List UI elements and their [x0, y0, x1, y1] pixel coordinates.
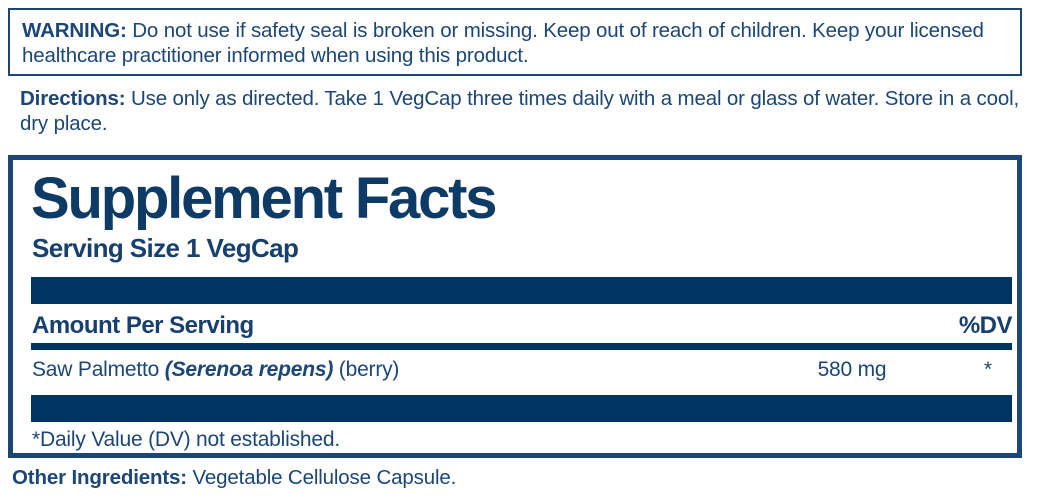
table-header-row: Amount Per Serving %DV	[32, 312, 1012, 340]
ingredient-dv-value: *	[968, 358, 1008, 382]
percent-dv-label: %DV	[959, 312, 1012, 340]
supplement-facts-panel: Supplement Facts Serving Size 1 VegCap A…	[8, 155, 1022, 458]
supplement-facts-title: Supplement Facts	[31, 168, 495, 230]
divider-bar-thin	[31, 343, 1012, 350]
table-row: Saw Palmetto (Serenoa repens) (berry) 58…	[32, 358, 1012, 388]
ingredient-name-prefix: Saw Palmetto	[32, 358, 165, 381]
directions-text: Directions: Use only as directed. Take 1…	[20, 86, 1020, 136]
warning-text: WARNING: Do not use if safety seal is br…	[22, 18, 1008, 68]
ingredient-name-suffix: (berry)	[333, 358, 399, 381]
divider-bar-bottom	[31, 395, 1012, 422]
warning-label: WARNING:	[22, 19, 127, 42]
other-ingredients-text: Other Ingredients: Vegetable Cellulose C…	[12, 465, 1022, 490]
ingredient-amount: 580 mg	[772, 358, 932, 382]
warning-box: WARNING: Do not use if safety seal is br…	[8, 8, 1022, 76]
amount-per-serving-label: Amount Per Serving	[32, 312, 254, 340]
other-ingredients-label: Other Ingredients:	[12, 466, 187, 489]
supplement-facts-inner: Supplement Facts Serving Size 1 VegCap A…	[22, 160, 1012, 453]
daily-value-footnote: *Daily Value (DV) not established.	[32, 428, 340, 452]
other-ingredients-body: Vegetable Cellulose Capsule.	[187, 466, 456, 489]
directions-body: Use only as directed. Take 1 VegCap thre…	[20, 87, 1019, 135]
ingredient-name: Saw Palmetto (Serenoa repens) (berry)	[32, 358, 399, 382]
divider-bar-top	[31, 277, 1012, 304]
serving-size-text: Serving Size 1 VegCap	[32, 233, 298, 264]
warning-body: Do not use if safety seal is broken or m…	[22, 19, 984, 67]
ingredient-latin-name: (Serenoa repens)	[165, 358, 333, 381]
supplement-label-page: WARNING: Do not use if safety seal is br…	[0, 0, 1050, 497]
directions-label: Directions:	[20, 87, 125, 110]
